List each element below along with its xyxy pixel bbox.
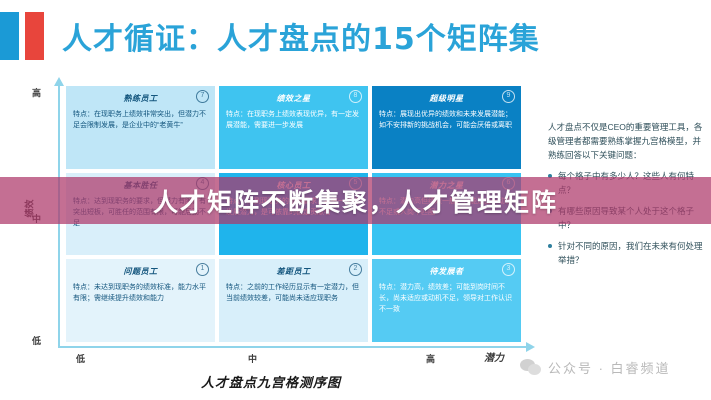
matrix-cell-1[interactable]: 1 问题员工 特点：未达到现职务的绩效标准，能力水平有限；需继续提升绩效和能力 xyxy=(66,259,215,342)
logo xyxy=(0,12,44,60)
footer: 公众号 · 白睿频道 xyxy=(520,358,671,377)
logo-bar-blue xyxy=(0,12,19,60)
overlay-banner: 人才矩阵不断集聚，人才管理矩阵 xyxy=(0,177,711,224)
x-tick-low: 低 xyxy=(76,352,85,365)
cell-desc-2: 特点：之前的工作经历显示有一定潜力，但当前绩效较差，可能尚未适应现职务 xyxy=(226,282,361,304)
cell-title-2: 差距员工 xyxy=(226,266,361,277)
y-tick-low: 低 xyxy=(32,334,41,347)
cell-number-7: 7 xyxy=(196,90,209,103)
side-question-3: 针对不同的原因，我们在未来有何处理举措？ xyxy=(548,239,708,267)
overlay-title: 人才矩阵不断集聚，人才管理矩阵 xyxy=(153,183,558,219)
cell-desc-8: 特点：在现职务上绩效表现优异，有一定发展潜能，需要进一步发展 xyxy=(226,109,361,131)
cell-desc-3: 特点：潜力高，绩效差；可能到岗时间不长，尚未适应或动机不足，领导对工作认识不一致 xyxy=(379,282,514,315)
y-tick-high: 高 xyxy=(32,86,41,99)
page-root: 人才循证：人才盘点的15个矩阵集 绩效 潜力 高 中 低 低 中 高 7 熟练员… xyxy=(0,0,711,400)
matrix-cell-2[interactable]: 2 差距员工 特点：之前的工作经历显示有一定潜力，但当前绩效较差，可能尚未适应现… xyxy=(219,259,368,342)
cell-number-8: 8 xyxy=(349,90,362,103)
page-header: 人才循证：人才盘点的15个矩阵集 xyxy=(0,10,540,62)
nine-box-chart: 绩效 潜力 高 中 低 低 中 高 7 熟练员工 特点：在现职务上绩效非常突出，… xyxy=(36,84,526,364)
matrix-cell-3[interactable]: 3 待发展者 特点：潜力高，绩效差；可能到岗时间不长，尚未适应或动机不足，领导对… xyxy=(372,259,521,342)
x-tick-mid: 中 xyxy=(248,352,257,365)
cell-title-1: 问题员工 xyxy=(73,266,208,277)
cell-title-7: 熟练员工 xyxy=(73,93,208,104)
matrix-cell-7[interactable]: 7 熟练员工 特点：在现职务上绩效非常突出，但潜力不足会限制发展，是企业中的“老… xyxy=(66,86,215,169)
cell-title-3: 待发展者 xyxy=(379,266,514,277)
page-title: 人才循证：人才盘点的15个矩阵集 xyxy=(62,14,540,58)
cell-desc-7: 特点：在现职务上绩效非常突出，但潜力不足会限制发展，是企业中的“老黄牛” xyxy=(73,109,208,131)
wechat-icon xyxy=(520,359,542,377)
x-axis-title: 潜力 xyxy=(484,349,504,364)
cell-desc-1: 特点：未达到现职务的绩效标准，能力水平有限；需继续提升绩效和能力 xyxy=(73,282,208,304)
x-tick-high: 高 xyxy=(426,352,435,365)
cell-desc-9: 特点：展现出优异的绩效和未来发展潜能；如不安排新的挑战机会，可能会厌倦或离职 xyxy=(379,109,514,131)
matrix-cell-8[interactable]: 8 绩效之星 特点：在现职务上绩效表现优异，有一定发展潜能，需要进一步发展 xyxy=(219,86,368,169)
matrix-cell-9[interactable]: 9 超级明星 特点：展现出优异的绩效和未来发展潜能；如不安排新的挑战机会，可能会… xyxy=(372,86,521,169)
chart-caption: 人才盘点九宫格测序图 xyxy=(36,372,506,391)
cell-title-8: 绩效之星 xyxy=(226,93,361,104)
x-axis-line xyxy=(58,346,528,348)
footer-text: 公众号 · 白睿频道 xyxy=(548,358,671,377)
cell-title-9: 超级明星 xyxy=(379,93,514,104)
side-intro: 人才盘点不仅是CEO的重要管理工具，各级管理者都需要熟练掌握九宫格模型，并熟练回… xyxy=(548,120,708,162)
logo-bar-red xyxy=(25,12,44,60)
cell-number-9: 9 xyxy=(502,90,515,103)
